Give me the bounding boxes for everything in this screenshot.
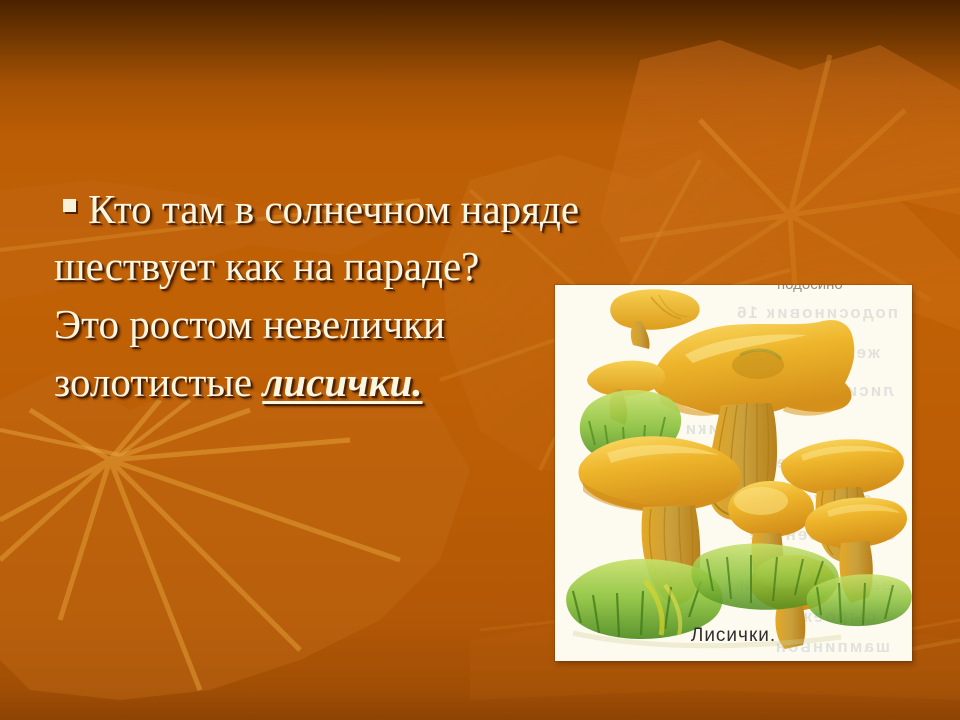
picture-top-partial-text: подосино bbox=[777, 285, 843, 293]
chanterelle-illustration-svg bbox=[555, 285, 912, 661]
poem-line-4-emphasis: лисички. bbox=[262, 359, 422, 405]
poem-line-3: Это ростом невелички bbox=[54, 304, 445, 345]
slide: Кто там в солнечном наряде шествует как … bbox=[0, 0, 960, 720]
mushroom-picture: подосиновик 16 желтый лисички грибы в ле… bbox=[555, 285, 912, 661]
square-bullet-icon bbox=[63, 199, 76, 212]
poem-line-1: Кто там в солнечном наряде bbox=[88, 189, 579, 230]
poem-line-4: золотистые лисички. bbox=[54, 362, 423, 403]
poem-line-4-plain: золотистые bbox=[54, 359, 262, 405]
poem-line-2: шествует как на параде? bbox=[54, 246, 479, 287]
picture-caption: Лисички. bbox=[555, 625, 912, 647]
mushroom-main-cap bbox=[651, 320, 854, 416]
poem-text-block: Кто там в солнечном наряде шествует как … bbox=[0, 0, 560, 430]
